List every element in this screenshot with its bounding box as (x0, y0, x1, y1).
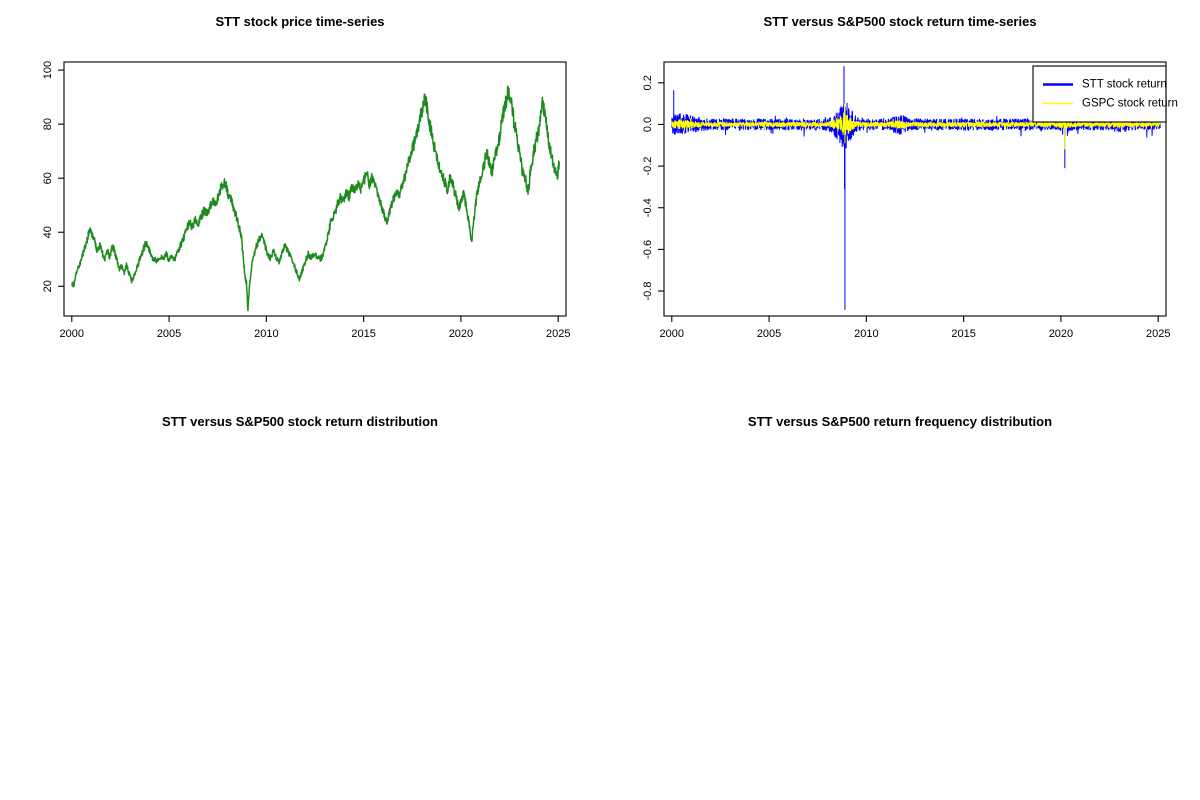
x-tick-label: 2015 (351, 328, 375, 340)
figure-grid: STT stock price time-series 200020052010… (0, 0, 1200, 800)
y-tick-label: 0.2 (642, 75, 654, 90)
chart-histogram: STT versus S&P500 return frequency distr… (600, 400, 1200, 800)
panel-return-frequency: STT versus S&P500 return frequency distr… (600, 400, 1200, 800)
legend-label: GSPC stock return (1082, 98, 1178, 110)
panel-title-price: STT stock price time-series (215, 14, 384, 29)
x-tick-label: 2025 (546, 328, 570, 340)
panel-title-density: STT versus S&P500 stock return distribut… (162, 414, 438, 429)
legend-box (1033, 66, 1166, 122)
y-tick-label: 80 (42, 118, 54, 130)
y-tick-label: 20 (42, 280, 54, 292)
x-tick-label: 2010 (854, 328, 878, 340)
y-tick-label: 60 (42, 172, 54, 184)
y-tick-label: 40 (42, 226, 54, 238)
panel-stt-price: STT stock price time-series 200020052010… (0, 0, 600, 400)
panel-return-timeseries: STT versus S&P500 stock return time-seri… (600, 0, 1200, 400)
panel-title-histogram: STT versus S&P500 return frequency distr… (748, 414, 1052, 429)
y-tick-label: -0.2 (642, 157, 654, 176)
chart-returns: STT versus S&P500 stock return time-seri… (600, 0, 1200, 400)
series-line-stt-price (72, 86, 559, 310)
x-tick-label: 2000 (60, 328, 84, 340)
x-tick-label: 2000 (660, 328, 684, 340)
legend-label: STT stock return (1082, 79, 1167, 91)
x-tick-label: 2005 (157, 328, 181, 340)
y-tick-label: -0.4 (642, 198, 654, 217)
y-tick-label: 100 (42, 61, 54, 79)
panel-title-returns: STT versus S&P500 stock return time-seri… (763, 14, 1036, 29)
x-tick-label: 2010 (254, 328, 278, 340)
panel-return-distribution: STT versus S&P500 stock return distribut… (0, 400, 600, 800)
x-tick-label: 2025 (1146, 328, 1170, 340)
chart-density: STT versus S&P500 stock return distribut… (0, 400, 600, 800)
y-tick-label: -0.8 (642, 282, 654, 301)
y-tick-label: -0.6 (642, 240, 654, 259)
x-tick-label: 2020 (1049, 328, 1073, 340)
plot-area-price: 20002005201020152020202520406080100 (42, 61, 570, 340)
plot-box (64, 62, 566, 316)
x-tick-label: 2020 (449, 328, 473, 340)
plot-area-returns: 2000200520102015202020250.20.0-0.2-0.4-0… (642, 62, 1178, 340)
y-tick-label: 0.0 (642, 117, 654, 132)
x-tick-label: 2005 (757, 328, 781, 340)
chart-price: STT stock price time-series 200020052010… (0, 0, 600, 400)
x-tick-label: 2015 (951, 328, 975, 340)
